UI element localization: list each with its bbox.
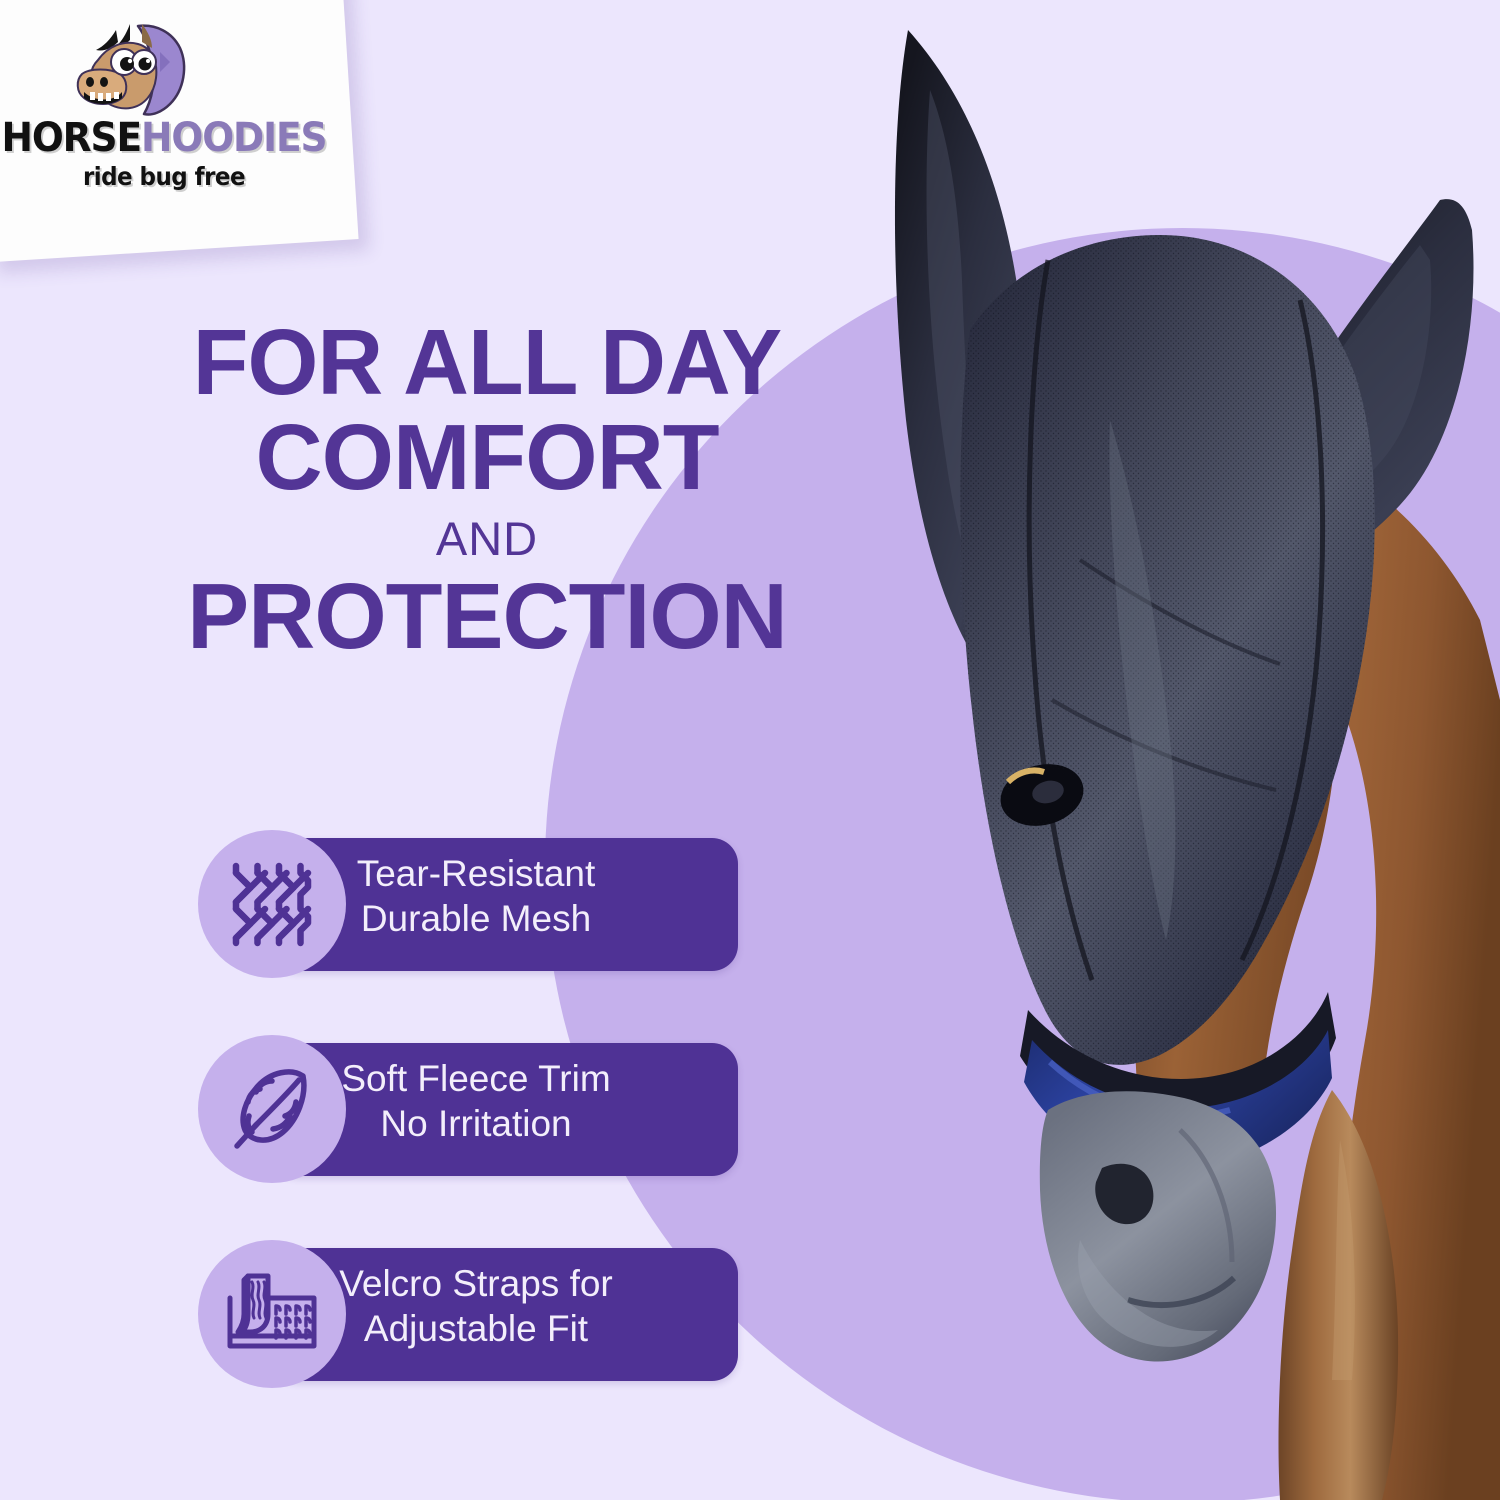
brand-logo-card: HORSEHOODIES ride bug free — [0, 0, 359, 262]
product-marketing-image: HORSEHOODIES ride bug free FOR ALL DAY C… — [0, 0, 1500, 1500]
feature-line-2: Durable Mesh — [361, 897, 591, 941]
feature-text-velcro: Velcro Straps for Adjustable Fit — [306, 1240, 646, 1373]
feature-line-1: Tear-Resistant — [357, 852, 596, 896]
product-photo-donkey-fly-mask — [780, 0, 1500, 1500]
feature-line-2: Adjustable Fit — [364, 1307, 588, 1351]
headline-line-3: PROTECTION — [92, 572, 882, 661]
brand-tagline: ride bug free — [0, 162, 335, 191]
brand-wordmark-part1: HORSE — [1, 115, 141, 161]
feature-line-1: Velcro Straps for — [339, 1262, 613, 1306]
feature-text-mesh: Tear-Resistant Durable Mesh — [306, 830, 646, 963]
feature-text-fleece: Soft Fleece Trim No Irritation — [306, 1035, 646, 1168]
brand-wordmark: HORSEHOODIES — [0, 118, 339, 158]
mesh-lattice-icon — [198, 830, 346, 978]
headline-block: FOR ALL DAY COMFORT AND PROTECTION — [92, 318, 882, 661]
headline-line-2: COMFORT — [92, 413, 882, 502]
feature-line-2: No Irritation — [380, 1102, 571, 1146]
feature-line-1: Soft Fleece Trim — [341, 1057, 610, 1101]
headline-line-1: FOR ALL DAY — [100, 318, 874, 407]
horse-head-logo-icon — [64, 22, 196, 126]
brand-wordmark-part2: HOODIES — [141, 115, 326, 161]
headline-connector: AND — [92, 515, 882, 562]
feather-icon — [198, 1035, 346, 1183]
velcro-strap-icon — [198, 1240, 346, 1388]
